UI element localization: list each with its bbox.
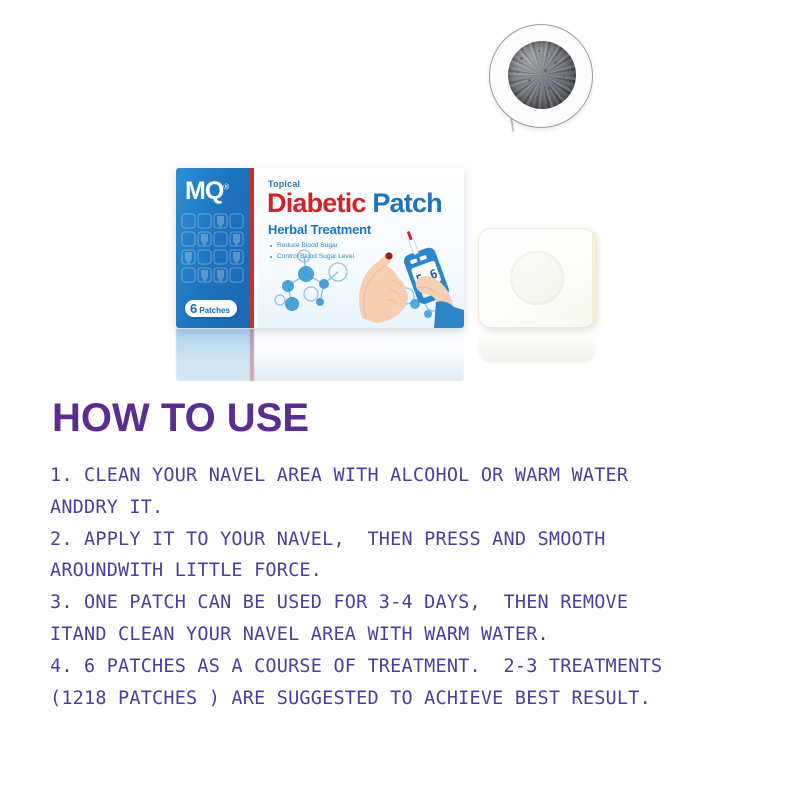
step-2-line-1: 2. APPLY IT TO YOUR NAVEL, THEN PRESS AN…	[50, 524, 770, 556]
herbal-powder-icon	[508, 41, 576, 109]
box-benefit-list: Reduce Blood Sugar Control Blood Sugar L…	[270, 241, 354, 263]
step-3-line-2: ITAND CLEAN YOUR NAVEL AREA WITH WARM WA…	[50, 619, 770, 651]
product-box: MQ®	[176, 168, 464, 328]
how-to-use-steps: 1. CLEAN YOUR NAVEL AREA WITH ALCOHOL OR…	[50, 460, 770, 715]
box-subtitle: Herbal Treatment	[268, 222, 371, 237]
list-item: 3. ONE PATCH CAN BE USED FOR 3-4 DAYS, T…	[50, 587, 770, 651]
registered-mark-icon: ®	[223, 183, 228, 192]
step-2-line-2: AROUNDWITH LITTLE FORCE.	[50, 555, 770, 587]
box-front-face: 5.6 Topical Diabetic Patch Herbal Treatm…	[258, 168, 464, 328]
patch-count-badge: 6 Patches	[185, 300, 237, 317]
product-box-reflection	[176, 329, 464, 381]
step-1-line-2: ANDDRY IT.	[50, 492, 770, 524]
brand-logo: MQ®	[185, 179, 228, 204]
brand-logo-text: MQ	[185, 177, 223, 205]
herbal-powder-callout	[489, 24, 593, 128]
list-item: Control Blood Sugar Level	[270, 252, 354, 263]
list-item: 2. APPLY IT TO YOUR NAVEL, THEN PRESS AN…	[50, 524, 770, 588]
patch-count-label: Patches	[199, 307, 230, 315]
single-patch-reflection	[478, 329, 596, 363]
list-item: 1. CLEAN YOUR NAVEL AREA WITH ALCOHOL OR…	[50, 460, 770, 524]
glucometer-reading: 5.6	[414, 266, 439, 287]
box-left-panel: MQ®	[176, 168, 254, 328]
single-patch-product	[478, 228, 596, 328]
box-title-patch: Patch	[372, 188, 442, 218]
patch-count-number: 6	[190, 302, 197, 315]
page-title: HOW TO USE	[52, 398, 309, 438]
step-4-line-1: 4. 6 PATCHES AS A COURSE OF TREATMENT. 2…	[50, 651, 770, 683]
list-item: 4. 6 PATCHES AS A COURSE OF TREATMENT. 2…	[50, 651, 770, 715]
patch-watermark-pattern-icon	[180, 212, 250, 284]
patch-edge-highlight	[592, 232, 599, 324]
box-reflection-panel	[176, 329, 254, 381]
box-title-diabetic: Diabetic	[267, 188, 366, 218]
box-product-title: Diabetic Patch	[267, 189, 442, 217]
product-photo-scene: MQ®	[0, 0, 800, 380]
step-1-line-1: 1. CLEAN YOUR NAVEL AREA WITH ALCOHOL OR…	[50, 460, 770, 492]
step-3-line-1: 3. ONE PATCH CAN BE USED FOR 3-4 DAYS, T…	[50, 587, 770, 619]
step-4-line-2: (1218 PATCHES ) ARE SUGGESTED TO ACHIEVE…	[50, 683, 770, 715]
list-item: Reduce Blood Sugar	[270, 241, 354, 252]
